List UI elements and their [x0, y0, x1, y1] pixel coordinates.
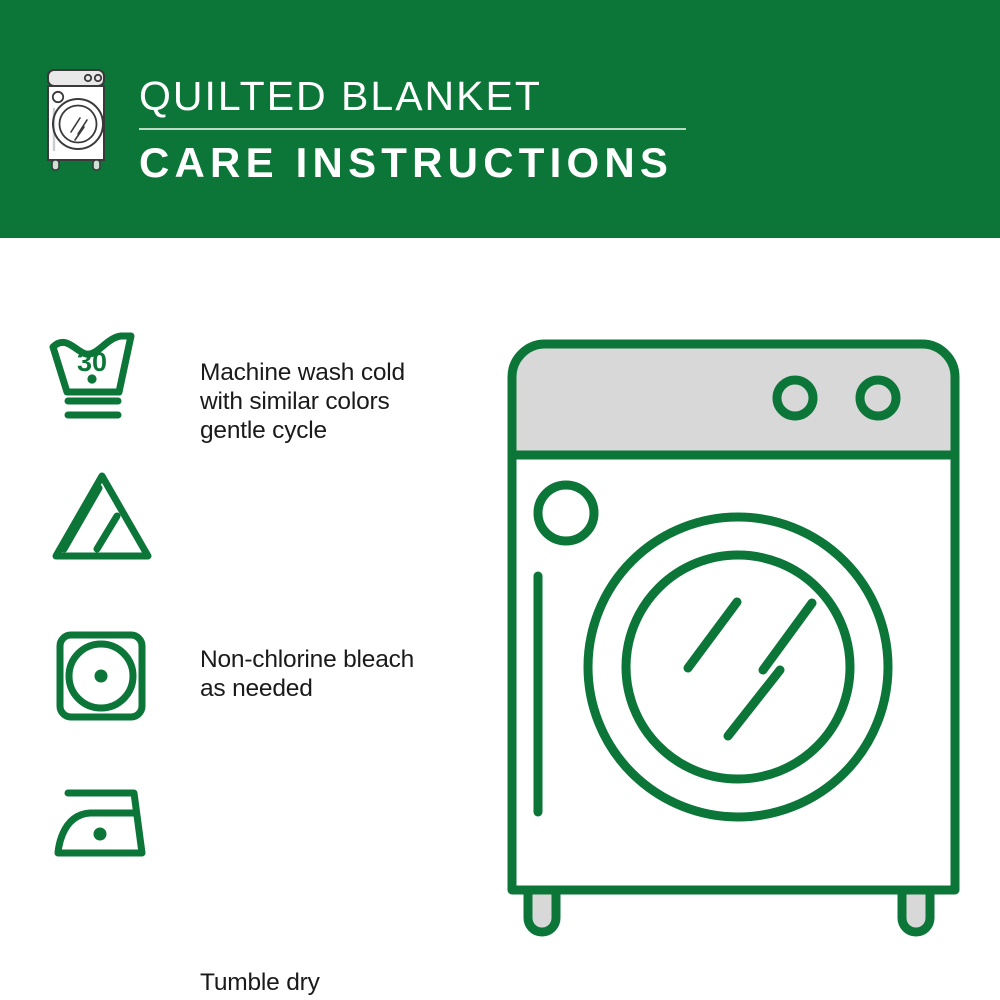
wash-tub-30-icon: 30 [48, 330, 148, 426]
care-row-iron: Iron if needed low heat [0, 775, 470, 895]
drum-highlight-1 [688, 602, 737, 668]
iron-low-heat-icon [50, 775, 154, 861]
drum-inner-ring [626, 555, 850, 779]
washing-machine-illustration [490, 330, 980, 940]
drum-outer-ring [588, 517, 888, 817]
machine-leg-left [528, 890, 556, 932]
care-row-bleach: Non-chlorine bleach as needed [0, 470, 470, 590]
header-banner: QUILTED BLANKET CARE INSTRUCTIONS [0, 0, 1000, 238]
care-row-wash: 30 Machine wash cold with similar colors… [0, 330, 470, 450]
washing-machine-icon [44, 66, 116, 174]
page-title-primary: QUILTED BLANKET [139, 72, 699, 120]
machine-leg-right [902, 890, 930, 932]
care-text-tumble-dry: Tumble dry low heat [200, 968, 320, 1000]
header-title-block: QUILTED BLANKET CARE INSTRUCTIONS [139, 72, 699, 187]
bleach-triangle-icon [50, 470, 154, 562]
care-text-wash: Machine wash cold with similar colors ge… [200, 358, 405, 445]
drum-highlight-2 [763, 603, 812, 670]
page-title-secondary: CARE INSTRUCTIONS [139, 139, 699, 187]
control-panel-fill [512, 344, 955, 455]
title-divider [139, 128, 686, 130]
care-instructions-infographic: QUILTED BLANKET CARE INSTRUCTIONS 30 Mac… [0, 0, 1000, 1000]
wash-temp-label: 30 [77, 347, 107, 377]
indicator-light-icon [538, 485, 594, 541]
drum-highlight-3 [728, 670, 780, 736]
care-row-tumble-dry: Tumble dry low heat [0, 630, 470, 750]
tumble-dry-low-icon [55, 630, 147, 722]
